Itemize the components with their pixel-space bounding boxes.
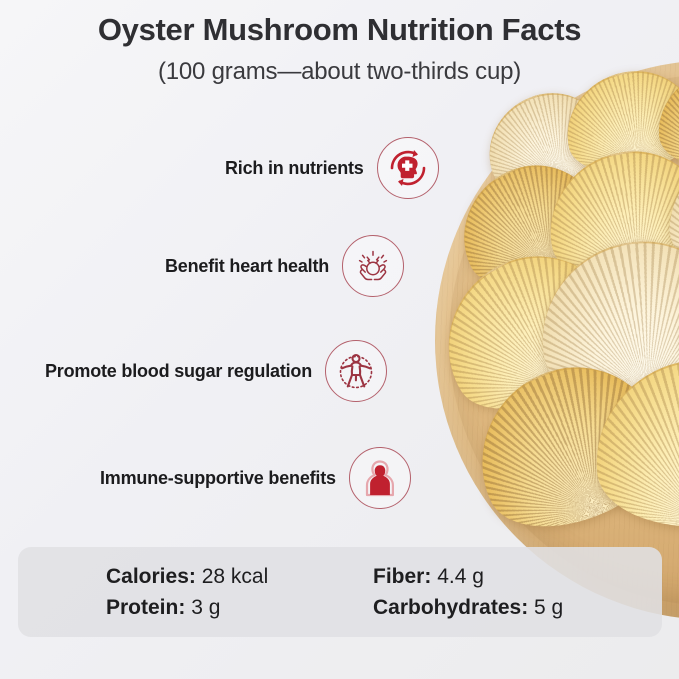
mushroom-cap bbox=[472, 76, 618, 208]
mushroom-cap bbox=[675, 238, 679, 414]
hands-holding-heart-icon bbox=[342, 235, 404, 297]
benefit-label: Rich in nutrients bbox=[225, 158, 364, 179]
nutrition-item-protein: Protein: 3 g bbox=[106, 592, 268, 623]
mushroom-cap bbox=[668, 145, 679, 285]
benefit-label: Benefit heart health bbox=[165, 256, 329, 277]
nutrition-value: 5 g bbox=[534, 596, 563, 619]
nutrition-column-left: Calories: 28 kcal Protein: 3 g bbox=[106, 561, 268, 623]
nutrition-column-right: Fiber: 4.4 g Carbohydrates: 5 g bbox=[373, 561, 563, 623]
page-title: Oyster Mushroom Nutrition Facts bbox=[0, 12, 679, 48]
benefit-label: Immune-supportive benefits bbox=[100, 468, 336, 489]
nutrition-item-carbohydrates: Carbohydrates: 5 g bbox=[373, 592, 563, 623]
nutrition-panel: Calories: 28 kcal Protein: 3 g Fiber: 4.… bbox=[18, 547, 662, 637]
benefit-row-promote-blood-sugar-regulation: Promote blood sugar regulation bbox=[45, 340, 387, 402]
human-torso-icon bbox=[349, 447, 411, 509]
nutrition-value: 28 kcal bbox=[202, 565, 269, 588]
benefit-row-immune-supportive-benefits: Immune-supportive benefits bbox=[100, 447, 411, 509]
mushroom-photo bbox=[380, 0, 679, 640]
mushroom-cap bbox=[538, 139, 679, 295]
nutrition-item-fiber: Fiber: 4.4 g bbox=[373, 561, 563, 592]
benefit-row-benefit-heart-health: Benefit heart health bbox=[165, 235, 404, 297]
infographic-page: Oyster Mushroom Nutrition Facts (100 gra… bbox=[0, 0, 679, 679]
mushroom-cap bbox=[452, 339, 679, 553]
nutrition-value: 4.4 g bbox=[437, 565, 484, 588]
page-subtitle: (100 grams—about two-thirds cup) bbox=[0, 58, 679, 86]
benefit-row-rich-in-nutrients: Rich in nutrients bbox=[225, 137, 439, 199]
mushroom-cap bbox=[441, 143, 616, 305]
head-plus-refresh-icon bbox=[377, 137, 439, 199]
mushroom-cap bbox=[530, 229, 679, 415]
vitruvian-figure-icon bbox=[325, 340, 387, 402]
mushroom-cap bbox=[588, 351, 679, 535]
nutrition-label: Carbohydrates: bbox=[373, 596, 528, 619]
nutrition-label: Calories: bbox=[106, 565, 196, 588]
nutrition-label: Fiber: bbox=[373, 565, 431, 588]
nutrition-value: 3 g bbox=[191, 596, 220, 619]
mushroom-cap bbox=[416, 226, 639, 436]
nutrition-label: Protein: bbox=[106, 596, 185, 619]
wooden-board bbox=[435, 60, 679, 620]
benefit-label: Promote blood sugar regulation bbox=[45, 361, 312, 382]
nutrition-item-calories: Calories: 28 kcal bbox=[106, 561, 268, 592]
